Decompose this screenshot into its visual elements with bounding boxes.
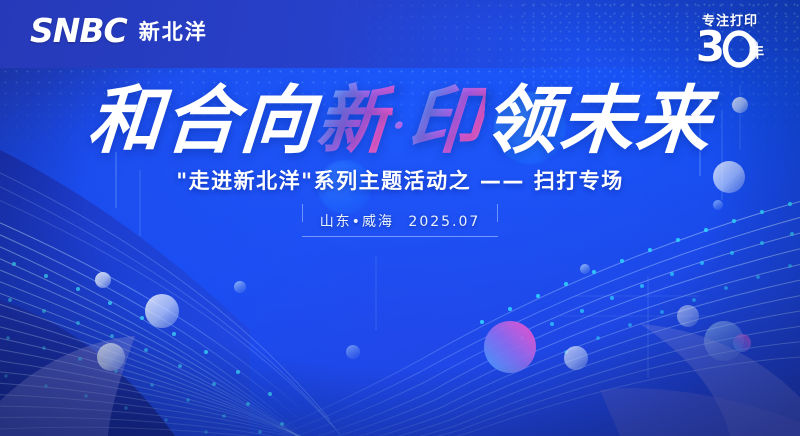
poster-subtitle: "走进新北洋"系列主题活动之 —— 扫打专场	[0, 165, 800, 195]
event-meta: 山东•威海 2025.07	[294, 208, 507, 237]
anniversary-zero-icon	[722, 28, 758, 66]
main-title-highlight-new: 新	[313, 78, 395, 164]
snbc-wordmark-text: SNBC	[30, 11, 127, 50]
main-title-part1: 和合向	[85, 78, 319, 164]
event-location: 山东•威海	[320, 214, 394, 230]
poster-canvas: SNBC 新北洋 专注打印 3 年 和合向新·印领未来 "走进新北洋"系列主	[0, 0, 800, 436]
anniversary-badge: 专注打印 3 年	[682, 10, 778, 66]
meta-tick-left	[302, 204, 303, 222]
main-title-part2: 领未来	[481, 78, 715, 164]
anniversary-number: 3	[696, 28, 725, 66]
main-title-highlight-print: 印	[405, 78, 487, 164]
meta-tick-right	[497, 204, 498, 222]
brand-logo[interactable]: SNBC 新北洋	[30, 14, 208, 47]
poster-content: 和合向新·印领未来 "走进新北洋"系列主题活动之 —— 扫打专场 山东•威海 2…	[0, 84, 800, 237]
meta-underline	[302, 236, 499, 237]
event-date: 2025.07	[408, 214, 480, 230]
company-name-cn: 新北洋	[139, 16, 208, 46]
snbc-wordmark-icon: SNBC	[30, 14, 127, 47]
main-title: 和合向新·印领未来	[0, 84, 800, 159]
